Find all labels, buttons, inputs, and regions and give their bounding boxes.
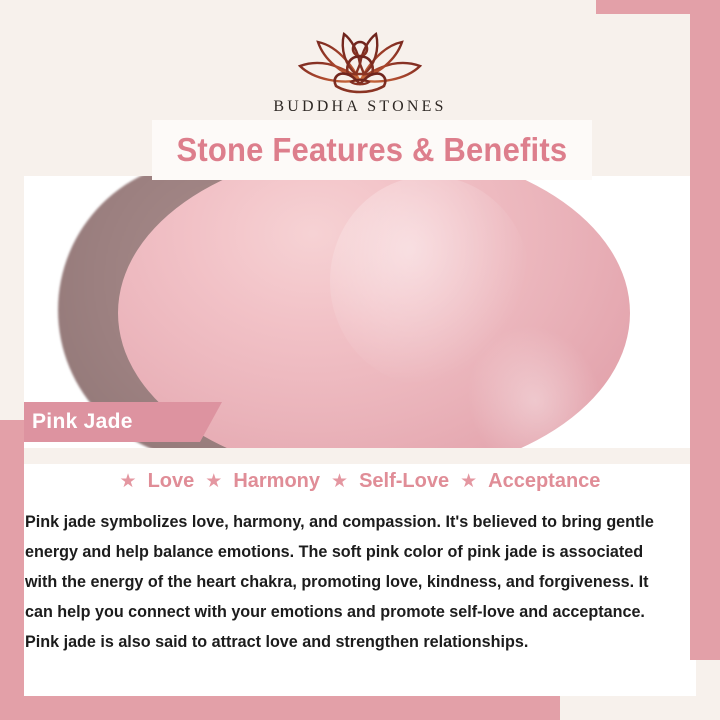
title-banner: Stone Features & Benefits (152, 120, 592, 180)
poster-root: BUDDHA STONES Stone Features & Benefits … (0, 0, 720, 720)
keyword-love: Love (148, 470, 195, 493)
star-icon: ★ (460, 472, 477, 491)
frame-band-bottom (0, 696, 560, 720)
keyword-self-love: Self-Love (359, 470, 449, 493)
star-icon: ★ (331, 472, 348, 491)
star-icon: ★ (205, 472, 222, 491)
section-divider (24, 448, 696, 464)
frame-band-top-cutout (0, 0, 596, 14)
frame-band-right (690, 0, 720, 660)
star-icon: ★ (120, 472, 137, 491)
stone-name-ribbon: Pink Jade (0, 402, 222, 442)
keyword-list: ★ Love ★ Harmony ★ Self-Love ★ Acceptanc… (24, 470, 696, 493)
lotus-meditation-icon (284, 22, 436, 94)
content-area: ★ Love ★ Harmony ★ Self-Love ★ Acceptanc… (24, 464, 696, 696)
brand-name: BUDDHA STONES (273, 98, 446, 116)
page-title: Stone Features & Benefits (177, 131, 568, 169)
brand-logo-block: BUDDHA STONES (0, 22, 720, 116)
frame-band-left-cutout (0, 120, 24, 420)
keyword-harmony: Harmony (233, 470, 320, 493)
stone-name-label: Pink Jade (32, 410, 133, 434)
keyword-acceptance: Acceptance (488, 470, 600, 493)
header-area: BUDDHA STONES (0, 0, 720, 128)
stone-description: Pink jade symbolizes love, harmony, and … (25, 507, 677, 657)
